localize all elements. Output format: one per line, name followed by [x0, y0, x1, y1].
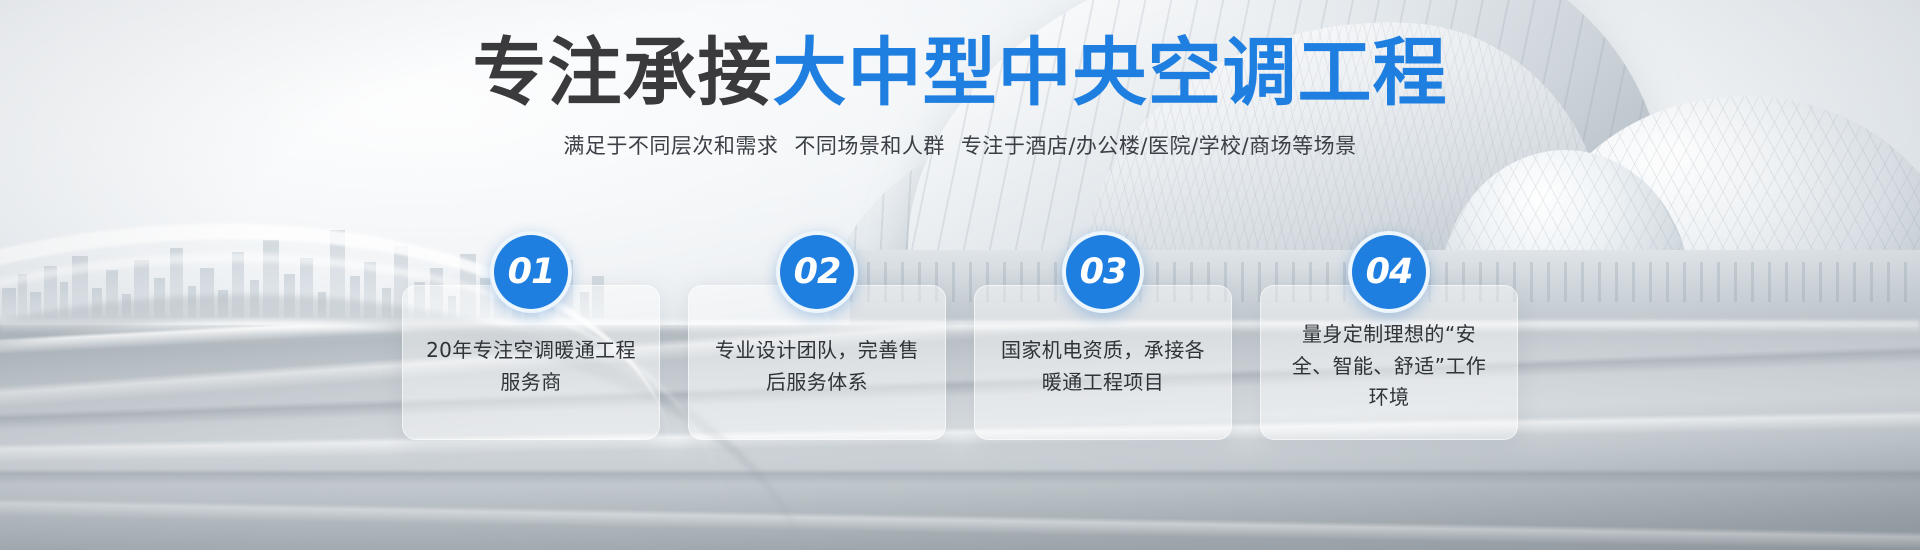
feature-number-04: 04	[1366, 252, 1413, 292]
subtitle: 满足于不同层次和需求不同场景和人群专注于酒店/办公楼/医院/学校/商场等场景	[0, 130, 1920, 160]
feature-card-03[interactable]: 03 国家机电资质，承接各暖通工程项目	[974, 285, 1232, 440]
feature-text-04: 量身定制理想的“安全、智能、舒适”工作环境	[1283, 319, 1495, 414]
feature-number-02: 02	[794, 252, 841, 292]
headline-container: 专注承接大中型中央空调工程	[0, 36, 1920, 110]
page-title: 专注承接大中型中央空调工程	[0, 36, 1920, 110]
hero-banner: 专注承接大中型中央空调工程 满足于不同层次和需求不同场景和人群专注于酒店/办公楼…	[0, 0, 1920, 550]
feature-card-04[interactable]: 04 量身定制理想的“安全、智能、舒适”工作环境	[1260, 285, 1518, 440]
feature-text-02: 专业设计团队，完善售后服务体系	[711, 335, 923, 398]
subtitle-part-2: 不同场景和人群	[794, 134, 945, 158]
feature-badge-04: 04	[1348, 231, 1430, 313]
feature-number-03: 03	[1080, 252, 1127, 292]
feature-number-01: 01	[508, 252, 555, 292]
feature-badge-01: 01	[490, 231, 572, 313]
subtitle-part-3: 专注于酒店/办公楼/医院/学校/商场等场景	[961, 134, 1357, 158]
feature-text-03: 国家机电资质，承接各暖通工程项目	[997, 335, 1209, 398]
feature-badge-03: 03	[1062, 231, 1144, 313]
feature-card-list: 01 20年专注空调暖通工程服务商 02 专业设计团队，完善售后服务体系 03 …	[0, 285, 1920, 440]
headline-accent: 大中型中央空调工程	[773, 30, 1448, 116]
feature-card-02[interactable]: 02 专业设计团队，完善售后服务体系	[688, 285, 946, 440]
subtitle-part-1: 满足于不同层次和需求	[563, 134, 778, 158]
feature-card-01[interactable]: 01 20年专注空调暖通工程服务商	[402, 285, 660, 440]
headline-lead: 专注承接	[473, 30, 773, 116]
feature-text-01: 20年专注空调暖通工程服务商	[425, 335, 637, 398]
feature-badge-02: 02	[776, 231, 858, 313]
